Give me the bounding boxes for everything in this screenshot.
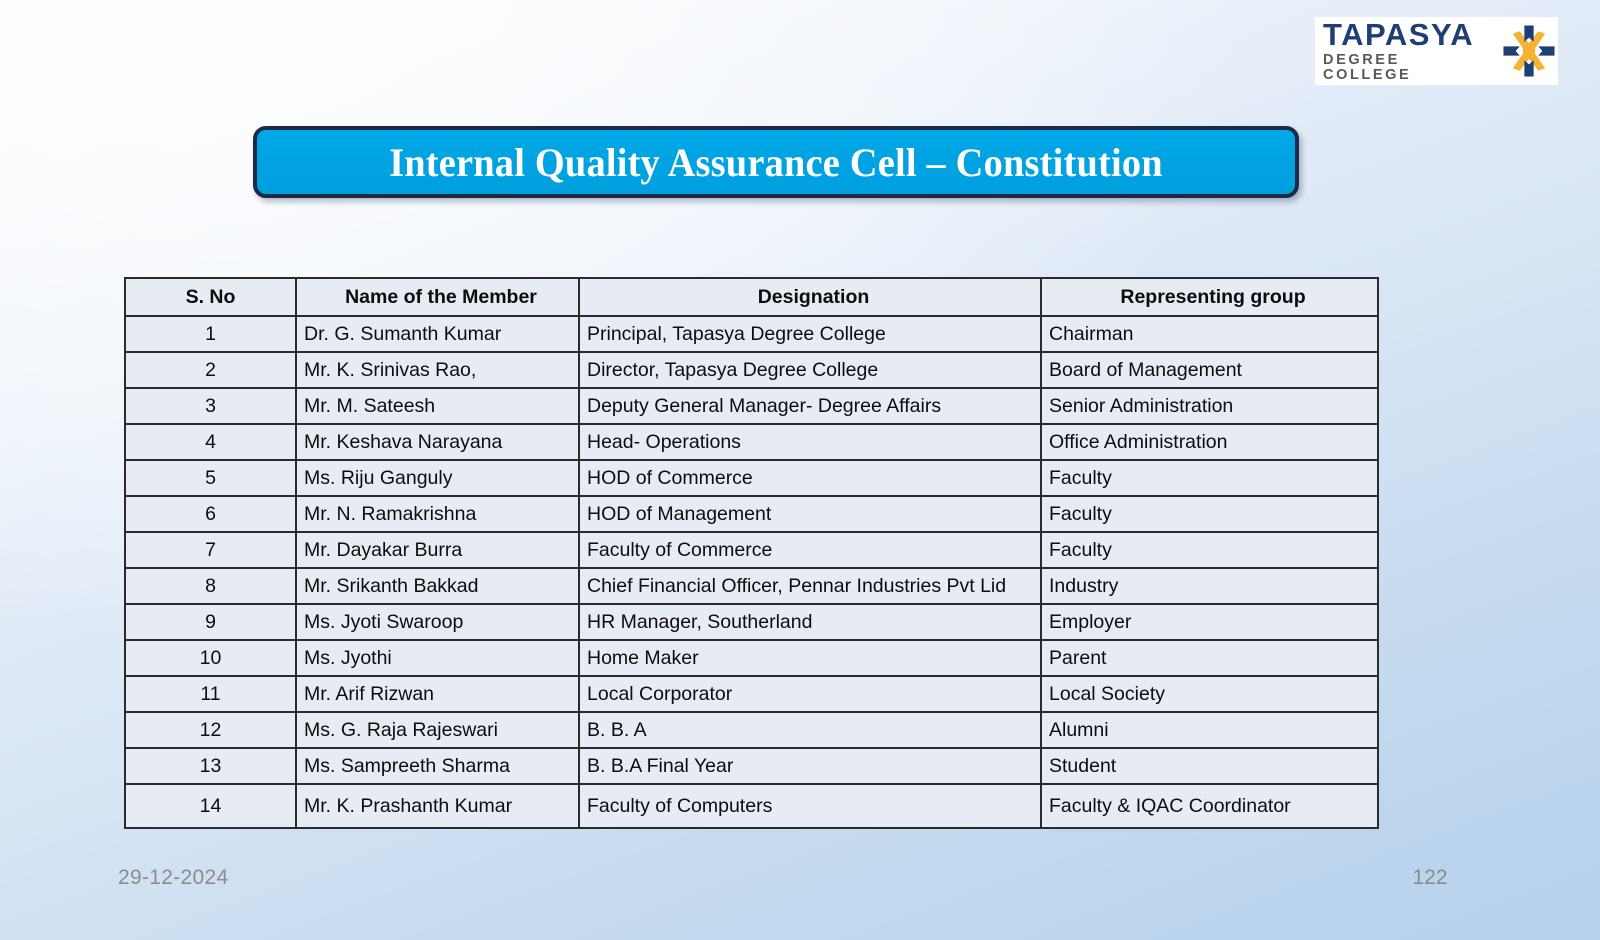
logo-wordmark: TAPASYA DEGREE COLLEGE xyxy=(1323,19,1490,83)
cell-name: Mr. K. Srinivas Rao, xyxy=(296,352,579,388)
cell-group: Faculty xyxy=(1041,460,1378,496)
cell-designation: Faculty of Computers xyxy=(579,784,1041,828)
table-row: 8 Mr. Srikanth Bakkad Chief Financial Of… xyxy=(125,568,1378,604)
cell-group: Employer xyxy=(1041,604,1378,640)
cell-name: Mr. Arif Rizwan xyxy=(296,676,579,712)
cell-sno: 4 xyxy=(125,424,296,460)
cell-sno: 14 xyxy=(125,784,296,828)
table-row: 7 Mr. Dayakar Burra Faculty of Commerce … xyxy=(125,532,1378,568)
cell-group: Student xyxy=(1041,748,1378,784)
cell-group: Industry xyxy=(1041,568,1378,604)
table-row: 5 Ms. Riju Ganguly HOD of Commerce Facul… xyxy=(125,460,1378,496)
cell-name: Dr. G. Sumanth Kumar xyxy=(296,316,579,352)
cell-designation: Faculty of Commerce xyxy=(579,532,1041,568)
cell-group: Local Society xyxy=(1041,676,1378,712)
logo-subtitle-text: DEGREE COLLEGE xyxy=(1323,53,1490,83)
iqac-constitution-table: S. No Name of the Member Designation Rep… xyxy=(124,277,1377,829)
cell-designation: HOD of Commerce xyxy=(579,460,1041,496)
college-logo: TAPASYA DEGREE COLLEGE xyxy=(1315,17,1558,85)
cell-designation: B. B. A xyxy=(579,712,1041,748)
cell-name: Ms. Riju Ganguly xyxy=(296,460,579,496)
column-header-name: Name of the Member xyxy=(296,278,579,316)
starburst-icon xyxy=(1500,22,1558,80)
table-row: 13 Ms. Sampreeth Sharma B. B.A Final Yea… xyxy=(125,748,1378,784)
cell-sno: 1 xyxy=(125,316,296,352)
table-row: 14 Mr. K. Prashanth Kumar Faculty of Com… xyxy=(125,784,1378,828)
table-body: 1 Dr. G. Sumanth Kumar Principal, Tapasy… xyxy=(125,316,1378,828)
table-row: 11 Mr. Arif Rizwan Local Corporator Loca… xyxy=(125,676,1378,712)
slide-title-banner: Internal Quality Assurance Cell – Consti… xyxy=(253,126,1299,198)
cell-designation: Home Maker xyxy=(579,640,1041,676)
table-header-row: S. No Name of the Member Designation Rep… xyxy=(125,278,1378,316)
table-row: 6 Mr. N. Ramakrishna HOD of Management F… xyxy=(125,496,1378,532)
cell-group: Faculty xyxy=(1041,496,1378,532)
column-header-sno: S. No xyxy=(125,278,296,316)
table-row: 9 Ms. Jyoti Swaroop HR Manager, Southerl… xyxy=(125,604,1378,640)
cell-sno: 12 xyxy=(125,712,296,748)
cell-sno: 13 xyxy=(125,748,296,784)
table-row: 3 Mr. M. Sateesh Deputy General Manager-… xyxy=(125,388,1378,424)
cell-name: Ms. G. Raja Rajeswari xyxy=(296,712,579,748)
cell-sno: 10 xyxy=(125,640,296,676)
cell-name: Ms. Jyothi xyxy=(296,640,579,676)
cell-name: Mr. Keshava Narayana xyxy=(296,424,579,460)
table-header: S. No Name of the Member Designation Rep… xyxy=(125,278,1378,316)
cell-sno: 7 xyxy=(125,532,296,568)
cell-name: Mr. Srikanth Bakkad xyxy=(296,568,579,604)
cell-name: Ms. Sampreeth Sharma xyxy=(296,748,579,784)
cell-sno: 3 xyxy=(125,388,296,424)
table-row: 4 Mr. Keshava Narayana Head- Operations … xyxy=(125,424,1378,460)
cell-group: Senior Administration xyxy=(1041,388,1378,424)
table-row: 1 Dr. G. Sumanth Kumar Principal, Tapasy… xyxy=(125,316,1378,352)
cell-sno: 9 xyxy=(125,604,296,640)
cell-designation: HR Manager, Southerland xyxy=(579,604,1041,640)
page-title: Internal Quality Assurance Cell – Consti… xyxy=(389,139,1163,186)
cell-group: Office Administration xyxy=(1041,424,1378,460)
cell-sno: 5 xyxy=(125,460,296,496)
cell-name: Mr. N. Ramakrishna xyxy=(296,496,579,532)
cell-group: Chairman xyxy=(1041,316,1378,352)
cell-designation: Principal, Tapasya Degree College xyxy=(579,316,1041,352)
cell-name: Mr. Dayakar Burra xyxy=(296,532,579,568)
cell-designation: Chief Financial Officer, Pennar Industri… xyxy=(579,568,1041,604)
cell-designation: Head- Operations xyxy=(579,424,1041,460)
cell-sno: 8 xyxy=(125,568,296,604)
cell-designation: Deputy General Manager- Degree Affairs xyxy=(579,388,1041,424)
cell-group: Faculty & IQAC Coordinator xyxy=(1041,784,1378,828)
footer-page-number: 122 xyxy=(1400,866,1460,890)
cell-group: Alumni xyxy=(1041,712,1378,748)
table-row: 2 Mr. K. Srinivas Rao, Director, Tapasya… xyxy=(125,352,1378,388)
table-row: 12 Ms. G. Raja Rajeswari B. B. A Alumni xyxy=(125,712,1378,748)
cell-name: Mr. M. Sateesh xyxy=(296,388,579,424)
slide-canvas: TAPASYA DEGREE COLLEGE Internal Quality … xyxy=(0,0,1600,940)
cell-name: Ms. Jyoti Swaroop xyxy=(296,604,579,640)
logo-name-text: TAPASYA xyxy=(1323,19,1490,51)
cell-designation: Local Corporator xyxy=(579,676,1041,712)
cell-group: Faculty xyxy=(1041,532,1378,568)
cell-sno: 2 xyxy=(125,352,296,388)
footer-date: 29-12-2024 xyxy=(118,866,228,890)
cell-designation: B. B.A Final Year xyxy=(579,748,1041,784)
cell-designation: Director, Tapasya Degree College xyxy=(579,352,1041,388)
table-row: 10 Ms. Jyothi Home Maker Parent xyxy=(125,640,1378,676)
cell-sno: 6 xyxy=(125,496,296,532)
column-header-group: Representing group xyxy=(1041,278,1378,316)
cell-group: Board of Management xyxy=(1041,352,1378,388)
cell-sno: 11 xyxy=(125,676,296,712)
cell-name: Mr. K. Prashanth Kumar xyxy=(296,784,579,828)
column-header-designation: Designation xyxy=(579,278,1041,316)
cell-group: Parent xyxy=(1041,640,1378,676)
cell-designation: HOD of Management xyxy=(579,496,1041,532)
